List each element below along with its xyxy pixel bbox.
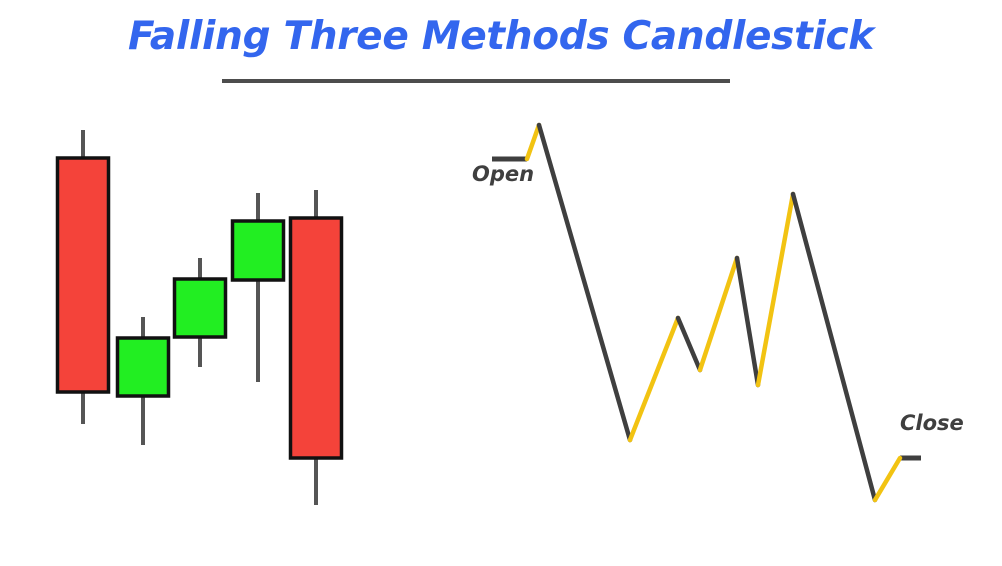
price-path-diagram [492,125,921,500]
path-segment-5-up [700,258,737,370]
path-segment-7-up [758,194,793,385]
open-label: Open [472,162,534,186]
candle-3-bullish-small [175,258,226,367]
path-segment-8-down [793,194,875,500]
candle-body [175,279,226,337]
path-segment-6-down [737,258,758,385]
path-segment-9-up [875,458,900,500]
candlestick-chart [58,130,342,505]
candle-body [58,158,109,392]
illustration-svg [0,0,1002,566]
path-segment-2-down [539,125,630,440]
candle-1-bearish-long [58,130,109,424]
candle-4-bullish-small [233,193,284,382]
candle-5-bearish-long [291,190,342,505]
path-segment-3-up [630,318,678,440]
candle-body [291,218,342,458]
candle-body [233,221,284,280]
path-segment-1-up [527,125,539,159]
path-segment-4-down [678,318,700,370]
candle-2-bullish-small [118,317,169,445]
close-label: Close [900,411,964,435]
candle-body [118,338,169,396]
illustration-canvas: Falling Three Methods Candlestick Open C… [0,0,1002,566]
